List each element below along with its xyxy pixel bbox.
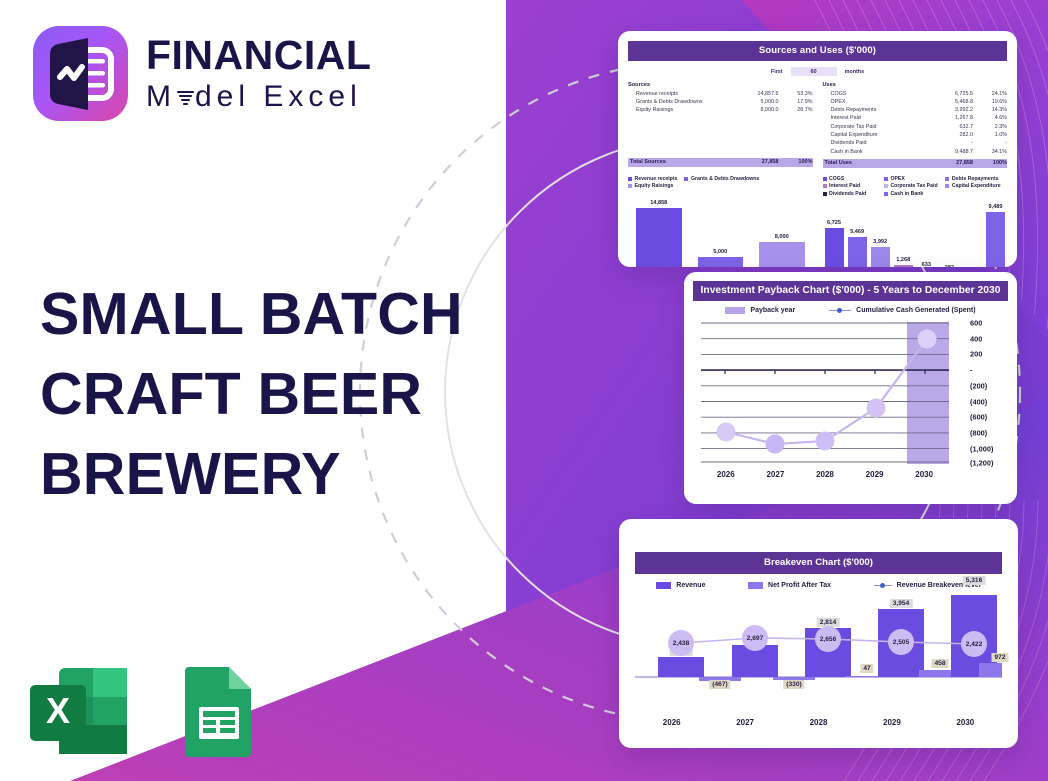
format-icons: X <box>27 663 259 759</box>
legend-item: Cash in Bank <box>884 191 945 197</box>
legend-item: Revenue <box>656 582 705 589</box>
breakeven-bubble: 2,422 <box>961 631 987 657</box>
y-tick: 600 <box>970 319 982 328</box>
bar <box>759 242 805 267</box>
total-label: Total Sources <box>628 158 737 167</box>
y-tick: (1,000) <box>970 444 993 453</box>
bar <box>986 212 1005 267</box>
sources-column: Sources Revenue receipts 14,857.6 53.3% … <box>628 82 813 168</box>
payback-x-axis-labels: 2026 2027 2028 2029 2030 <box>701 470 949 479</box>
payback-y-axis-labels: 600 400 200 - (200) (400) (600) (800) (1… <box>970 322 1010 464</box>
uses-rows: COGS6,725.524.1% OPEX5,468.819.6% Debts … <box>823 90 1008 156</box>
uses-column: Uses COGS6,725.524.1% OPEX5,468.819.6% D… <box>823 82 1008 168</box>
table-row: Corporate Tax Paid632.72.3% <box>823 123 1008 131</box>
y-tick: (400) <box>970 397 987 406</box>
breakeven-x-axis-labels: 2026 2027 2028 2029 2030 <box>635 718 1002 727</box>
financial-model-logo-icon <box>33 26 128 121</box>
bar-value-label: 6,725 <box>827 220 841 226</box>
x-tick: 2026 <box>701 470 751 479</box>
row-percent: 34.1% <box>973 148 1007 156</box>
bar-value-label: 9,489 <box>988 204 1002 210</box>
bar-value-label: 5,469 <box>850 229 864 235</box>
brand-name-line1: FINANCIAL <box>146 35 371 76</box>
table-row: Grants & Debts Drawdowns 5,000.0 17.9% <box>628 98 813 106</box>
bar-value-label: (467) <box>709 680 730 689</box>
bar <box>636 208 682 267</box>
row-value: 5,000.0 <box>737 98 779 106</box>
table-row: Revenue receipts 14,857.6 53.3% <box>628 90 813 98</box>
row-percent: 53.3% <box>779 90 813 98</box>
table-row: Debts Repayments3,992.214.3% <box>823 106 1008 114</box>
y-tick: 400 <box>970 334 982 343</box>
legend-item: Grants & Debts Drawdowns <box>684 176 759 182</box>
row-value: 632.7 <box>931 123 973 131</box>
row-percent: 1.0% <box>973 131 1007 139</box>
google-sheets-icon <box>179 663 259 759</box>
legend-item: Cumulative Cash Generated (Spent) <box>829 307 975 314</box>
row-label: Cash in Bank <box>823 148 932 156</box>
bar-group: 9,489 <box>984 202 1007 267</box>
table-row: Cash in Bank9,488.734.1% <box>823 148 1008 156</box>
legend-item: Equity Raisings <box>628 183 673 189</box>
breakeven-title: Breakeven Chart ($'000) <box>635 552 1002 574</box>
row-label: Debts Repayments <box>823 106 932 114</box>
payback-legend: Payback year Cumulative Cash Generated (… <box>693 307 1008 314</box>
row-percent: 4.6% <box>973 114 1007 122</box>
row-value: 3,992.2 <box>931 106 973 114</box>
breakeven-bubble: 2,656 <box>815 626 841 652</box>
table-row: Interest Paid1,267.84.6% <box>823 114 1008 122</box>
bar-group: 0 <box>961 202 984 267</box>
headline-line-1: SMALL BATCH <box>40 274 463 354</box>
row-label: Revenue receipts <box>628 90 737 98</box>
bar <box>825 228 844 267</box>
row-value: 282.0 <box>931 131 973 139</box>
y-tick: (200) <box>970 381 987 390</box>
x-tick: 2030 <box>929 718 1002 727</box>
svg-text:X: X <box>46 690 70 731</box>
bar-value-label: 282 <box>945 265 954 267</box>
sources-and-uses-title: Sources and Uses ($'000) <box>628 41 1007 61</box>
bar-group: 5,000 <box>690 195 752 267</box>
sources-bar-chart: 14,858 5,000 8,000 <box>628 195 813 267</box>
sources-legend: Revenue receipts Grants & Debts Drawdown… <box>628 176 813 191</box>
brand-name-line2: M del Excel <box>146 82 371 112</box>
revenue-bar <box>658 657 704 677</box>
x-tick: 2030 <box>899 470 949 479</box>
table-row: OPEX5,468.819.6% <box>823 98 1008 106</box>
bar <box>848 237 867 267</box>
row-value: 9,488.7 <box>931 148 973 156</box>
breakeven-bubble: 2,438 <box>668 630 694 656</box>
months-selector-row: First 60 months <box>628 67 1007 76</box>
total-percent: 100% <box>779 158 813 167</box>
legend-item: OPEX <box>884 176 945 182</box>
payback-line-chart <box>701 322 959 464</box>
row-label: Dividends Paid <box>823 139 932 147</box>
row-label: OPEX <box>823 98 932 106</box>
npat-bar <box>979 663 1002 677</box>
row-value: - <box>931 139 973 147</box>
legend-item: Payback year <box>725 307 795 314</box>
bar-group: 282 <box>938 202 961 267</box>
total-percent: 100% <box>973 159 1007 168</box>
table-row: Dividends Paid-- <box>823 139 1008 147</box>
bar-value-label: 458 <box>931 659 948 668</box>
bar-group: 633 <box>915 202 938 267</box>
x-tick: 2027 <box>751 470 801 479</box>
sources-chart-block: Revenue receipts Grants & Debts Drawdown… <box>628 171 813 267</box>
x-tick: 2028 <box>782 718 855 727</box>
row-percent: 24.1% <box>973 90 1007 98</box>
breakeven-plot: 1,140 1,848 2,814 3,954 5,316 (467) (330… <box>635 595 1002 702</box>
legend-item: Net Profit After Tax <box>748 582 831 589</box>
poster-canvas: FINANCIAL M del Excel SMALL BATCH CRAFT … <box>0 0 1048 781</box>
breakeven-bubble: 2,697 <box>742 625 768 651</box>
sources-header: Sources <box>628 82 813 88</box>
row-percent: 2.3% <box>973 123 1007 131</box>
row-label: COGS <box>823 90 932 98</box>
bar-value-label: 5,000 <box>713 249 727 255</box>
row-percent: 14.3% <box>973 106 1007 114</box>
page-title: SMALL BATCH CRAFT BEER BREWERY <box>40 274 463 514</box>
bar-value-label: 14,858 <box>650 200 667 206</box>
x-tick: 2026 <box>635 718 708 727</box>
bar-value-label: 972 <box>991 653 1008 662</box>
row-label: Corporate Tax Paid <box>823 123 932 131</box>
sources-rows: Revenue receipts 14,857.6 53.3% Grants &… <box>628 90 813 115</box>
months-suffix-label: months <box>845 69 864 75</box>
row-percent: 19.6% <box>973 98 1007 106</box>
bar <box>698 257 744 267</box>
legend-item: Revenue receipts <box>628 176 677 182</box>
bar-value-label: 633 <box>922 262 931 267</box>
table-row: Capital Expenditure282.01.0% <box>823 131 1008 139</box>
y-tick: (800) <box>970 428 987 437</box>
uses-bar-chart: 6,725 5,469 3,992 1,268 633 282 0 9,489 <box>823 202 1008 267</box>
x-tick: 2028 <box>800 470 850 479</box>
row-label: Grants & Debts Drawdowns <box>628 98 737 106</box>
bar-group: 5,469 <box>846 202 869 267</box>
legend-item: Interest Paid <box>823 183 884 189</box>
bar-value-label: 1,268 <box>896 257 910 263</box>
legend-item: Capital Expenditure <box>945 183 1006 189</box>
bar-group: 1,268 <box>892 202 915 267</box>
bar-group: 3,992 <box>869 202 892 267</box>
bar-value-label: (330) <box>783 680 804 689</box>
y-tick: (600) <box>970 413 987 422</box>
bar-group: 6,725 <box>823 202 846 267</box>
brand-line2-pre: M <box>146 82 176 112</box>
payback-plot: 600 400 200 - (200) (400) (600) (800) (1… <box>701 322 1008 464</box>
y-tick: (1,200) <box>970 459 993 468</box>
row-value: 14,857.6 <box>737 90 779 98</box>
x-tick: 2029 <box>850 470 900 479</box>
bar <box>871 247 890 267</box>
bar-value-label: 3,954 <box>890 599 913 608</box>
legend-item: Debts Repayments <box>945 176 1006 182</box>
row-percent: 17.9% <box>779 98 813 106</box>
x-tick: 2029 <box>855 718 928 727</box>
bar-value-label: 8,000 <box>775 234 789 240</box>
total-value: 27,858 <box>931 159 973 168</box>
breakeven-card: Breakeven Chart ($'000) Revenue Net Prof… <box>619 519 1018 748</box>
uses-chart-block: COGS OPEX Debts Repayments Interest Paid… <box>823 171 1008 267</box>
x-tick: 2027 <box>708 718 781 727</box>
total-uses-row: Total Uses 27,858 100% <box>823 159 1008 168</box>
total-value: 27,858 <box>737 158 779 167</box>
hamburger-icon <box>177 87 194 107</box>
bar-value-label: 3,992 <box>873 239 887 245</box>
bar-group: 14,858 <box>628 195 690 267</box>
sources-and-uses-card: Sources and Uses ($'000) First 60 months… <box>618 31 1017 267</box>
bar <box>894 265 913 267</box>
y-tick: - <box>970 366 972 375</box>
headline-line-3: BREWERY <box>40 434 463 514</box>
breakeven-bubble: 2,505 <box>888 629 914 655</box>
months-input[interactable]: 60 <box>791 67 837 76</box>
bar-group: 8,000 <box>751 195 813 267</box>
investment-payback-card: Investment Payback Chart ($'000) - 5 Yea… <box>684 272 1017 504</box>
bar-value-label: 5,316 <box>963 576 986 585</box>
y-tick: 200 <box>970 350 982 359</box>
legend-item: Corporate Tax Paid <box>884 183 945 189</box>
table-row: COGS6,725.524.1% <box>823 90 1008 98</box>
legend-item: Dividends Paid <box>823 191 884 197</box>
brand-line2-post: del Excel <box>195 82 362 112</box>
headline-line-2: CRAFT BEER <box>40 354 463 434</box>
row-percent: - <box>973 139 1007 147</box>
row-value: 5,468.8 <box>931 98 973 106</box>
uses-header: Uses <box>823 82 1008 88</box>
row-value: 8,000.0 <box>737 106 779 114</box>
legend-item: COGS <box>823 176 884 182</box>
row-label: Capital Expenditure <box>823 131 932 139</box>
total-sources-row: Total Sources 27,858 100% <box>628 158 813 167</box>
row-value: 6,725.5 <box>931 90 973 98</box>
brand-lockup: FINANCIAL M del Excel <box>33 26 371 121</box>
bar-value-label: 47 <box>860 664 873 673</box>
row-label: Interest Paid <box>823 114 932 122</box>
row-label: Equity Raisings <box>628 106 737 114</box>
table-row: Equity Raisings 8,000.0 28.7% <box>628 106 813 114</box>
row-percent: 28.7% <box>779 106 813 114</box>
investment-payback-title: Investment Payback Chart ($'000) - 5 Yea… <box>693 281 1008 301</box>
breakeven-legend: Revenue Net Profit After Tax Revenue Bre… <box>635 582 1002 589</box>
microsoft-excel-icon: X <box>27 663 137 759</box>
row-value: 1,267.8 <box>931 114 973 122</box>
uses-legend: COGS OPEX Debts Repayments Interest Paid… <box>823 176 1008 199</box>
total-label: Total Uses <box>823 159 932 168</box>
months-prefix-label: First <box>771 69 783 75</box>
